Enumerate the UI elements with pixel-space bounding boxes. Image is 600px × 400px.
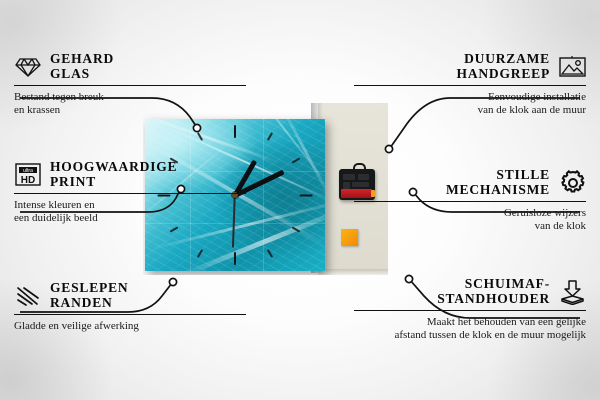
wall-panel-edge — [318, 269, 388, 275]
feature-stille-mechanisme[interactable]: STILLEMECHANISME Geruisloze wijzersvan d… — [354, 168, 586, 232]
divider — [14, 193, 246, 194]
svg-text:HD: HD — [20, 175, 34, 186]
feature-title: GESLEPENRANDEN — [50, 281, 128, 310]
divider — [354, 201, 586, 202]
divider — [14, 314, 246, 315]
feature-gehard-glas[interactable]: GEHARDGLAS Bestand tegen breuken krassen — [14, 52, 246, 116]
ultra-hd-icon: ultra HD — [14, 161, 41, 188]
divider — [354, 310, 586, 311]
feature-schuimafstandhouder[interactable]: SCHUIMAF-STANDHOUDER Maakt het behouden … — [354, 277, 586, 341]
divider — [14, 85, 246, 86]
infographic-canvas: GEHARDGLAS Bestand tegen breuken krassen… — [0, 0, 600, 400]
beveled-edges-icon — [14, 282, 41, 309]
divider — [354, 85, 586, 86]
feature-hoogwaardige-print[interactable]: ultra HD HOOGWAARDIGEPRINT Intense kleur… — [14, 160, 246, 224]
feature-title: STILLEMECHANISME — [446, 168, 550, 197]
down-arrow-pad-icon — [559, 278, 586, 305]
feature-title: HOOGWAARDIGEPRINT — [50, 160, 177, 189]
feature-description: Intense kleuren eneen duidelijk beeld — [14, 199, 246, 224]
diamond-icon — [14, 53, 41, 80]
feature-duurzame-handgreep[interactable]: DUURZAMEHANDGREEP Eenvoudige installatie… — [354, 52, 586, 116]
feature-description: Geruisloze wijzersvan de klok — [354, 207, 586, 232]
gear-icon — [559, 169, 586, 196]
feature-description: Gladde en veilige afwerking — [14, 320, 246, 333]
feature-description: Eenvoudige installatievan de klok aan de… — [354, 91, 586, 116]
feature-description: Bestand tegen breuken krassen — [14, 91, 246, 116]
feature-description: Maakt het behouden van een gelijkeafstan… — [354, 316, 586, 341]
picture-frame-icon — [559, 53, 586, 80]
feature-title: GEHARDGLAS — [50, 52, 114, 81]
svg-text:ultra: ultra — [23, 168, 33, 174]
feature-geslepen-randen[interactable]: GESLEPENRANDEN Gladde en veilige afwerki… — [14, 281, 246, 333]
feature-title: SCHUIMAF-STANDHOUDER — [437, 277, 550, 306]
feature-title: DUURZAMEHANDGREEP — [457, 52, 550, 81]
